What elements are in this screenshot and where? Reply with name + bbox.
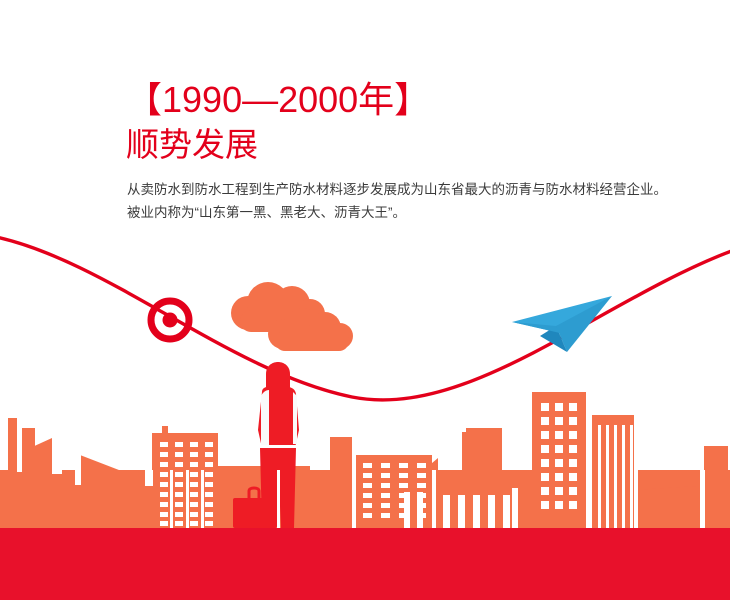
- gap-mid-1: [352, 455, 356, 528]
- gap-right-3: [700, 470, 705, 528]
- stripe-5: [630, 425, 633, 528]
- target-marker: [151, 301, 189, 339]
- stripe-1: [598, 425, 601, 528]
- building-right-edge: [704, 446, 728, 528]
- title-subtitle: 顺势发展: [126, 124, 430, 166]
- stripe-2: [606, 425, 609, 528]
- title-period: 【1990—2000年】: [126, 78, 430, 122]
- building-slant-a: [33, 444, 48, 528]
- colonnade-gap-3: [473, 495, 480, 528]
- colonnade-gap-5: [503, 495, 510, 528]
- stripe-3: [614, 425, 617, 528]
- gap-right-1: [586, 430, 592, 528]
- description-line-2: 被业内称为“山东第一黑、黑老大、沥青大王”。: [127, 201, 667, 224]
- tower-channel-3: [201, 470, 204, 528]
- ground-band: [0, 528, 730, 600]
- tower-channel-1: [170, 470, 173, 528]
- briefcase-body: [233, 498, 277, 528]
- person-belt: [259, 445, 297, 448]
- building-left-f: [0, 472, 28, 528]
- gap-right-4: [512, 488, 518, 528]
- building-slab-mid: [330, 437, 352, 528]
- person-vest-highlight: [261, 390, 269, 446]
- person-side-highlight: [293, 392, 297, 444]
- description-line-1: 从卖防水到防水工程到生产防水材料逐步发展成为山东省最大的沥青与防水材料经营企业。: [127, 178, 667, 201]
- page-title: 【1990—2000年】 顺势发展: [126, 78, 430, 166]
- colonnade-gap-2: [458, 495, 465, 528]
- gap-left-2: [52, 440, 62, 474]
- description-block: 从卖防水到防水工程到生产防水材料逐步发展成为山东省最大的沥青与防水材料经营企业。…: [127, 178, 667, 224]
- gap-left-1: [17, 418, 22, 472]
- gap-right-2: [634, 470, 638, 528]
- building-spire-left: [162, 426, 168, 438]
- paper-plane: [512, 296, 612, 352]
- gap-mid-2: [432, 470, 436, 528]
- gap-left-4: [145, 470, 153, 486]
- colonnade-gap-1: [443, 495, 450, 528]
- growth-curve: [0, 237, 730, 400]
- stripe-4: [622, 425, 625, 528]
- person-head: [266, 362, 290, 390]
- colonnade-gap-4: [488, 495, 495, 528]
- cloud-pair: [231, 282, 353, 351]
- tower-channel-2: [186, 470, 189, 528]
- person-leg-gap: [277, 470, 280, 528]
- building-right-low-b: [636, 486, 700, 528]
- building-mid-left-a: [95, 470, 150, 528]
- slide-canvas: 【1990—2000年】 顺势发展 从卖防水到防水工程到生产防水材料逐步发展成为…: [0, 0, 730, 600]
- gap-left-3: [75, 455, 81, 485]
